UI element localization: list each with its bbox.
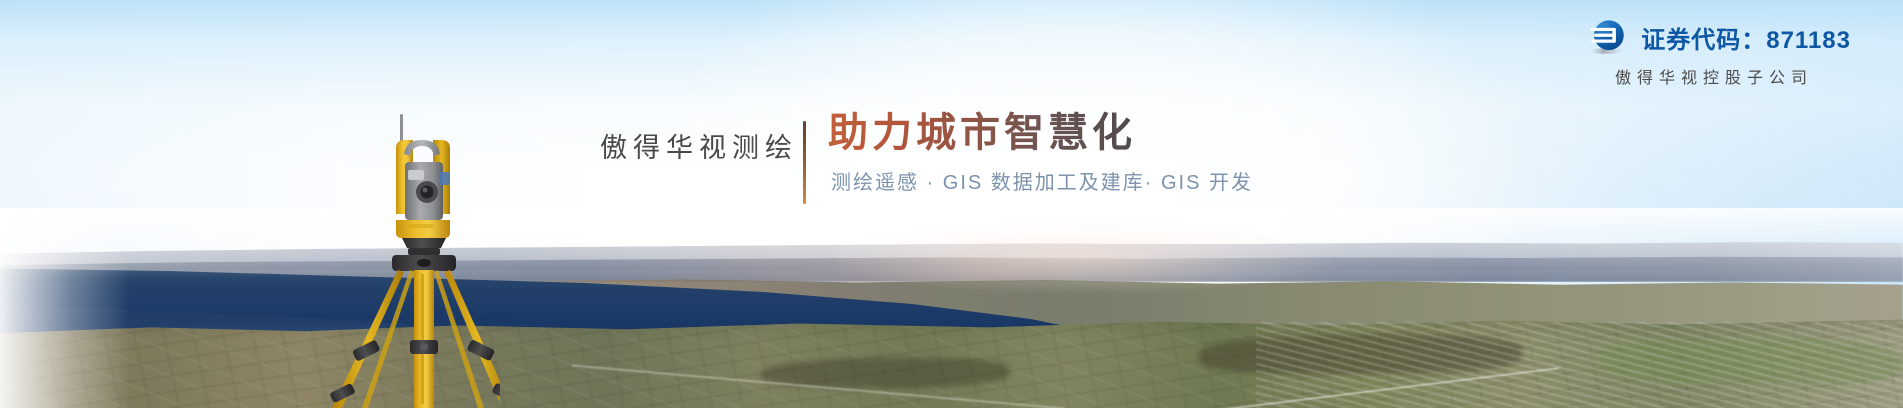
tripod-head-hub	[417, 259, 431, 267]
stock-code-row: 证券代码：871183	[1581, 16, 1851, 58]
tribrach-collar	[408, 248, 440, 255]
stock-code-label: 证券代码：871183	[1641, 20, 1851, 55]
telescope-lens	[421, 186, 434, 199]
tripod-leg-center-groove	[421, 274, 424, 404]
page-subtitle: 测绘遥感 · GIS 数据加工及建库· GIS 开发	[831, 166, 1253, 195]
vertical-divider	[803, 121, 806, 204]
station-base-plate	[396, 220, 450, 238]
headline-group: 傲得华视测绘 助力城市智慧化 测绘遥感 · GIS 数据加工及建库· GIS 开…	[600, 100, 1300, 230]
page-title: 助力城市智慧化	[828, 100, 1136, 158]
tribrach	[402, 238, 446, 248]
logo-bar-bottom	[1592, 40, 1617, 43]
logo-bar-top	[1591, 28, 1616, 31]
telescope-lens-glint	[423, 188, 428, 193]
tripod-clamp-center-knob	[420, 343, 428, 351]
brand-name-left: 傲得华视测绘	[600, 126, 798, 165]
survey-rig	[300, 112, 500, 408]
aerial-coastline-icon	[0, 208, 1903, 408]
logo-bar-spine	[1613, 28, 1617, 43]
subsidiary-label: 傲得华视控股子公司	[1581, 64, 1851, 88]
station-badge	[440, 172, 450, 185]
hero-banner: 傲得华视测绘 助力城市智慧化 测绘遥感 · GIS 数据加工及建库· GIS 开…	[0, 0, 1903, 408]
settlement-cluster	[1256, 322, 1903, 408]
survey-tripod-icon	[300, 112, 500, 408]
station-base-stripe	[408, 224, 434, 228]
station-display	[408, 170, 424, 180]
stock-info-block: 证券代码：871183 傲得华视控股子公司	[1581, 16, 1851, 94]
company-sphere-logo-icon[interactable]	[1587, 16, 1629, 58]
